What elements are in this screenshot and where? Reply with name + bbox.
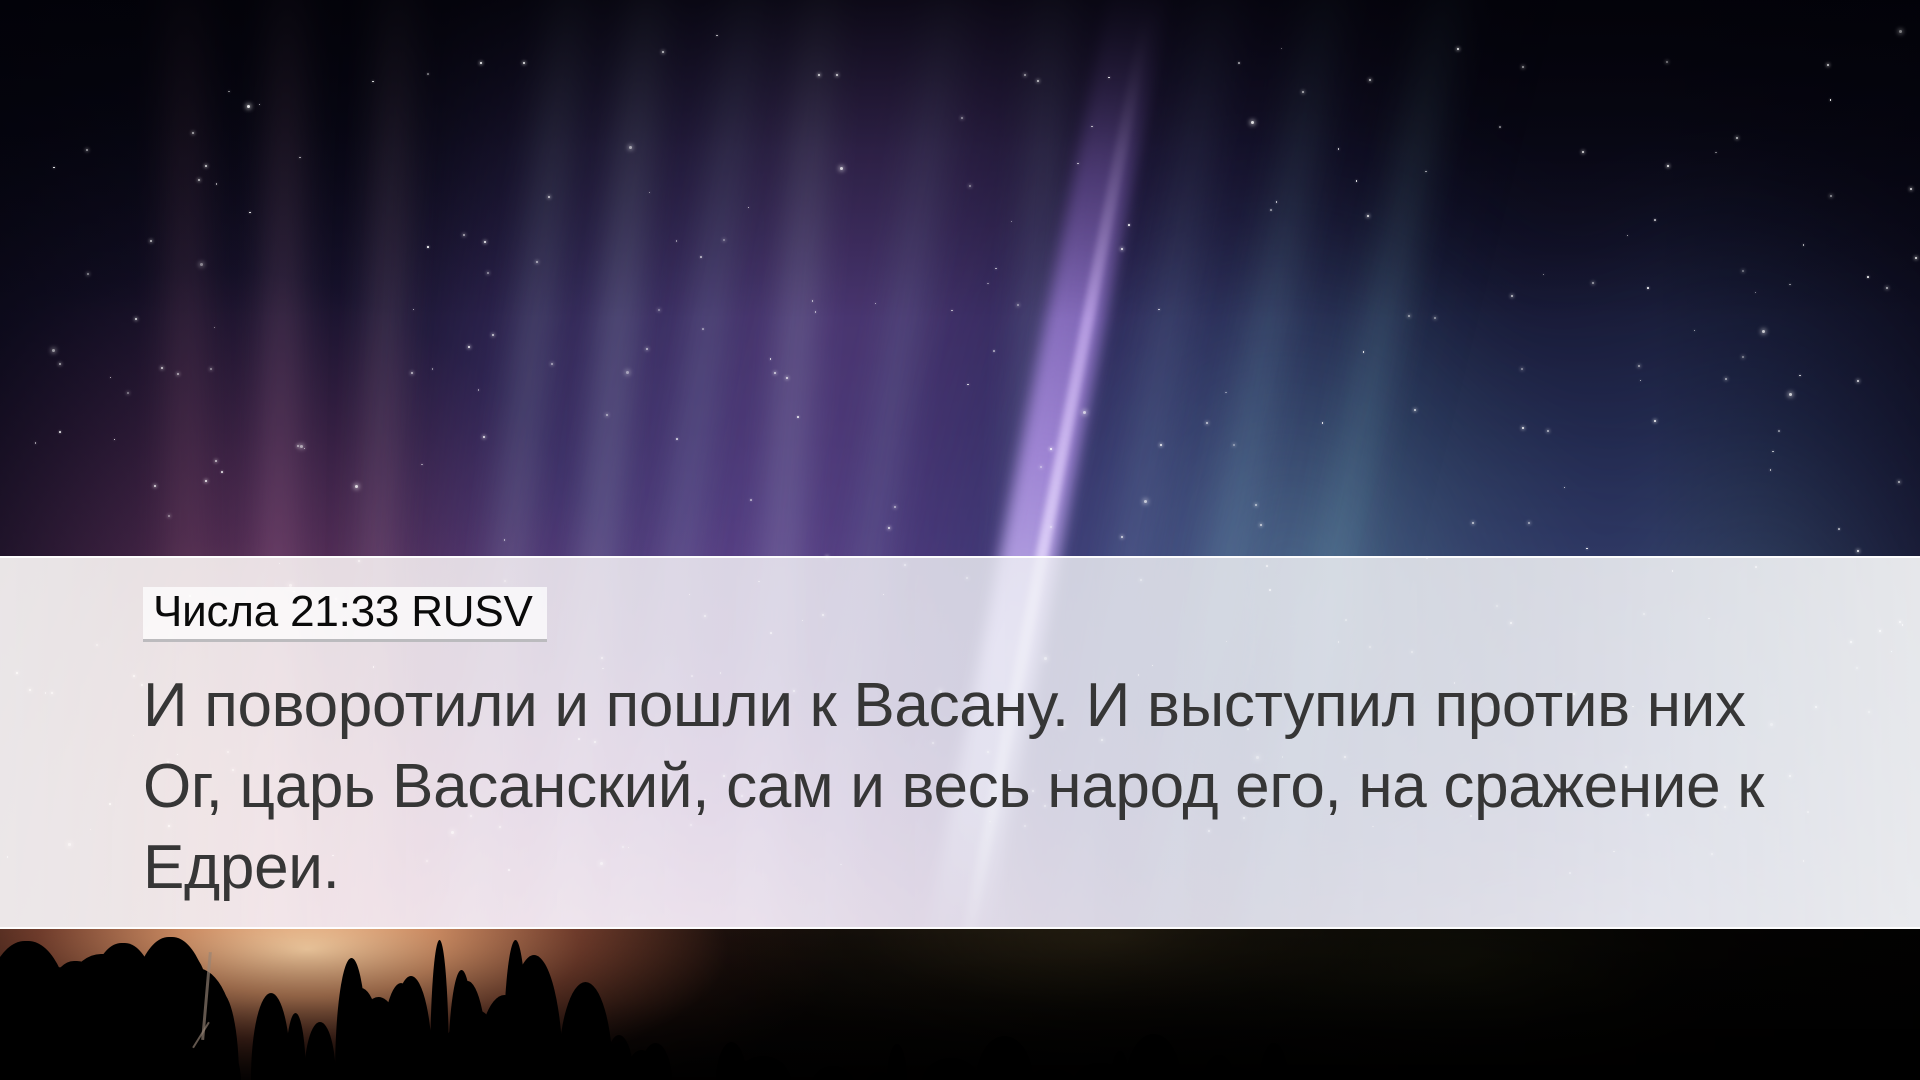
- star: [504, 539, 506, 541]
- star: [1647, 287, 1649, 289]
- star: [168, 515, 170, 517]
- star: [536, 261, 538, 263]
- star: [259, 104, 261, 106]
- verse-text: И поворотили и пошли к Васану. И выступи…: [143, 665, 1783, 908]
- star: [967, 384, 969, 386]
- star: [427, 246, 429, 248]
- star: [299, 157, 301, 159]
- star: [205, 165, 207, 167]
- star: [969, 185, 971, 187]
- star: [1233, 444, 1235, 446]
- star: [1144, 500, 1147, 503]
- star: [1772, 451, 1774, 453]
- star: [1121, 248, 1123, 250]
- star: [649, 192, 651, 194]
- star: [1898, 481, 1900, 483]
- star: [1414, 409, 1416, 411]
- star: [59, 431, 61, 433]
- star: [1050, 526, 1052, 528]
- star: [110, 377, 112, 379]
- star: [1694, 330, 1696, 332]
- star: [127, 392, 129, 394]
- star: [1755, 292, 1757, 294]
- star: [551, 363, 553, 365]
- star: [716, 35, 718, 37]
- star: [1128, 224, 1130, 226]
- star: [427, 73, 429, 75]
- verse-overlay-panel: Числа 21:33 RUSV И поворотили и пошли к …: [0, 556, 1920, 929]
- star: [1736, 137, 1738, 139]
- verse-reference-box: Числа 21:33 RUSV: [143, 587, 547, 642]
- star: [875, 303, 877, 305]
- verse-reference-label: Числа 21:33 RUSV: [153, 587, 533, 636]
- star: [1408, 315, 1410, 317]
- star: [1899, 30, 1902, 33]
- star: [487, 272, 489, 274]
- star: [35, 442, 37, 444]
- star: [1037, 80, 1039, 82]
- star: [421, 464, 423, 466]
- star: [355, 485, 358, 488]
- star: [1715, 152, 1717, 154]
- star: [1302, 91, 1304, 93]
- star: [216, 183, 218, 185]
- sunset-horizon: [0, 928, 1920, 1080]
- star: [1322, 422, 1324, 424]
- star: [700, 256, 702, 258]
- star: [1511, 295, 1513, 297]
- star: [249, 212, 251, 214]
- star: [135, 318, 137, 320]
- star: [1017, 304, 1019, 306]
- star: [480, 62, 482, 64]
- star: [548, 196, 550, 198]
- star: [1778, 430, 1780, 432]
- star: [484, 241, 486, 243]
- star: [894, 506, 896, 508]
- star: [987, 283, 989, 285]
- star: [1742, 356, 1744, 358]
- star: [1338, 148, 1340, 150]
- star: [1472, 522, 1474, 524]
- star: [658, 309, 660, 311]
- star: [993, 350, 995, 352]
- star: [1742, 270, 1744, 272]
- star: [629, 146, 632, 149]
- star: [1425, 171, 1427, 173]
- star: [1638, 365, 1640, 367]
- star: [888, 527, 890, 529]
- star: [492, 334, 494, 336]
- star: [87, 273, 89, 275]
- star: [786, 377, 788, 379]
- verse-content: Числа 21:33 RUSV И поворотили и пошли к …: [143, 558, 1823, 927]
- star: [818, 74, 820, 76]
- star: [114, 439, 116, 441]
- star: [1592, 282, 1594, 284]
- star: [770, 358, 772, 360]
- verse-image-canvas: Числа 21:33 RUSV И поворотили и пошли к …: [0, 0, 1920, 1080]
- star: [210, 368, 212, 370]
- star: [1667, 165, 1669, 167]
- star: [1158, 309, 1160, 311]
- star: [1160, 444, 1162, 446]
- star: [1434, 317, 1436, 319]
- star: [1830, 195, 1832, 197]
- star: [1838, 528, 1840, 530]
- star: [951, 310, 953, 312]
- star: [723, 239, 725, 241]
- star: [1915, 257, 1917, 259]
- star: [468, 346, 470, 348]
- star: [840, 167, 843, 170]
- star: [1762, 330, 1765, 333]
- star: [1770, 469, 1772, 471]
- star: [411, 372, 413, 374]
- star: [161, 367, 163, 369]
- star: [1666, 61, 1668, 63]
- star: [478, 389, 480, 391]
- star: [1522, 427, 1524, 429]
- star: [1627, 235, 1629, 237]
- star: [748, 207, 750, 209]
- star: [1521, 368, 1523, 370]
- star: [1789, 284, 1791, 286]
- star: [1910, 188, 1912, 190]
- star: [606, 414, 608, 416]
- star: [702, 328, 704, 330]
- star: [1457, 48, 1459, 50]
- star: [1725, 378, 1727, 380]
- star: [1040, 466, 1042, 468]
- star: [1582, 151, 1584, 153]
- star: [1857, 380, 1859, 382]
- star: [1276, 201, 1278, 203]
- star: [221, 471, 223, 473]
- star: [177, 373, 179, 375]
- star: [1083, 411, 1086, 414]
- star: [1270, 209, 1272, 211]
- star: [1050, 448, 1052, 450]
- star: [626, 371, 629, 374]
- star: [1654, 219, 1656, 221]
- star: [797, 416, 799, 418]
- star: [1121, 536, 1123, 538]
- star: [154, 485, 156, 487]
- star: [52, 349, 55, 352]
- star: [1867, 276, 1869, 278]
- star: [59, 363, 61, 365]
- star: [750, 499, 752, 501]
- star: [192, 132, 194, 134]
- star: [1803, 244, 1805, 246]
- star: [676, 438, 678, 440]
- star: [432, 368, 434, 370]
- star: [815, 311, 817, 313]
- star: [1281, 48, 1283, 50]
- star: [247, 105, 250, 108]
- star: [961, 117, 963, 119]
- star: [150, 240, 152, 242]
- star: [1255, 504, 1257, 506]
- verse-reference: Числа 21:33 RUSV: [143, 587, 547, 642]
- star: [774, 372, 776, 374]
- star: [463, 234, 465, 236]
- star: [304, 448, 306, 450]
- star: [297, 445, 299, 447]
- star: [662, 51, 664, 53]
- star: [1369, 79, 1371, 81]
- star: [1586, 548, 1588, 550]
- star: [1886, 287, 1888, 289]
- star: [198, 179, 200, 181]
- star: [372, 81, 374, 83]
- star: [215, 460, 217, 462]
- star: [1024, 74, 1026, 76]
- star: [1363, 351, 1365, 353]
- star: [53, 167, 55, 169]
- star: [1543, 274, 1545, 276]
- star: [1654, 420, 1656, 422]
- star: [1564, 487, 1566, 489]
- star: [300, 445, 303, 448]
- star: [86, 149, 88, 151]
- star: [812, 300, 814, 302]
- star: [1091, 126, 1093, 128]
- star: [1206, 422, 1208, 424]
- star: [228, 91, 230, 93]
- star: [1789, 393, 1792, 396]
- star: [1640, 380, 1642, 382]
- star: [1499, 126, 1501, 128]
- star: [200, 263, 203, 266]
- star: [205, 480, 207, 482]
- star: [1522, 66, 1524, 68]
- star: [1238, 62, 1240, 64]
- star: [1356, 180, 1358, 182]
- star: [483, 436, 485, 438]
- star: [214, 327, 216, 329]
- star: [1077, 163, 1079, 165]
- star: [1827, 64, 1829, 66]
- star: [1799, 375, 1801, 377]
- star: [523, 62, 525, 64]
- star: [1011, 221, 1013, 223]
- star: [1528, 522, 1530, 524]
- star: [995, 268, 997, 270]
- star: [1108, 77, 1110, 79]
- star: [676, 240, 678, 242]
- star: [836, 74, 838, 76]
- star: [1367, 215, 1369, 217]
- star: [1547, 430, 1549, 432]
- star: [1251, 121, 1254, 124]
- star: [413, 309, 415, 311]
- star: [1225, 392, 1227, 394]
- star: [1830, 99, 1832, 101]
- star: [646, 348, 648, 350]
- star: [1857, 550, 1859, 552]
- star: [1260, 524, 1262, 526]
